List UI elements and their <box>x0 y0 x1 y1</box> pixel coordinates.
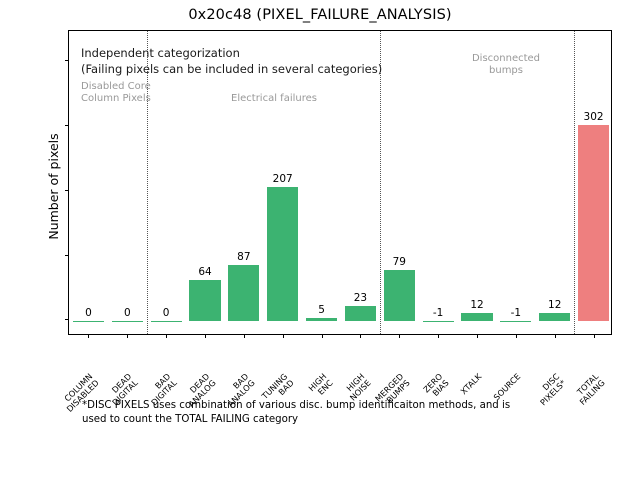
annotation-group-disconnected-line1: Disconnected <box>472 53 540 65</box>
bar-value-7: 23 <box>354 292 367 304</box>
bar-value-5: 207 <box>273 173 293 185</box>
annotation-group-electrical: Electrical failures <box>231 93 317 105</box>
bar-value-8: 79 <box>393 256 406 268</box>
footnote-line-1: *DISC PIXELS uses combination of various… <box>82 399 582 413</box>
bar-value-2: 0 <box>163 307 170 319</box>
footnote-line-2: used to count the TOTAL FAILING category <box>82 413 582 427</box>
bar-value-3: 64 <box>198 266 211 278</box>
x-tick-mark-12 <box>555 334 556 338</box>
bar-column-disabled <box>73 321 104 322</box>
bar-merged-bumps <box>384 270 415 321</box>
bar-xtalk <box>461 313 492 321</box>
group-divider-2 <box>574 31 575 334</box>
y-axis-label: Number of pixels <box>46 34 61 339</box>
bar-value-6: 5 <box>318 304 325 316</box>
annotation-independent-line1: Independent categorization <box>81 45 240 61</box>
annotation-group-disconnected-line2: bumps <box>489 65 523 77</box>
x-tick-mark-9 <box>438 334 439 338</box>
bar-zero-bias <box>423 321 454 322</box>
x-tick-mark-0 <box>88 334 89 338</box>
bar-disc-pixels <box>539 313 570 321</box>
annotation-group-disabled-line1: Disabled Core <box>81 81 151 93</box>
bar-value-9: -1 <box>433 307 443 319</box>
bar-dead-analog <box>189 280 220 322</box>
pixel-failure-analysis-figure: 0x20c48 (PIXEL_FAILURE_ANALYSIS) Number … <box>0 0 640 480</box>
bar-value-12: 12 <box>548 299 561 311</box>
bar-value-10: 12 <box>470 299 483 311</box>
x-tick-mark-8 <box>399 334 400 338</box>
x-tick-mark-1 <box>127 334 128 338</box>
annotation-independent-line2: (Failing pixels can be included in sever… <box>81 61 382 77</box>
x-tick-mark-13 <box>594 334 595 338</box>
bar-bad-digital <box>151 321 182 322</box>
x-tick-mark-2 <box>166 334 167 338</box>
x-tick-mark-5 <box>283 334 284 338</box>
x-tick-mark-6 <box>322 334 323 338</box>
x-tick-mark-4 <box>244 334 245 338</box>
bar-value-4: 87 <box>237 251 250 263</box>
bar-bad-analog <box>228 265 259 321</box>
x-tick-mark-3 <box>205 334 206 338</box>
bar-tuning-bad <box>267 187 298 321</box>
chart-title: 0x20c48 (PIXEL_FAILURE_ANALYSIS) <box>0 7 640 23</box>
bar-value-11: -1 <box>511 307 521 319</box>
bar-source <box>500 321 531 322</box>
bar-total-failing <box>578 125 609 321</box>
plot-area: Number of pixels 0 100 200 300 400 00064… <box>68 30 612 335</box>
x-tick-mark-11 <box>516 334 517 338</box>
x-tick-mark-10 <box>477 334 478 338</box>
annotation-group-disabled-line2: Column Pixels <box>81 93 151 105</box>
footnote: *DISC PIXELS uses combination of various… <box>82 399 582 426</box>
x-tick-mark-7 <box>360 334 361 338</box>
bar-value-0: 0 <box>85 307 92 319</box>
bar-value-13: 302 <box>584 111 604 123</box>
bar-high-noise <box>345 306 376 321</box>
bar-value-1: 0 <box>124 307 131 319</box>
bar-high-enc <box>306 318 337 321</box>
bar-dead-digital <box>112 321 143 322</box>
